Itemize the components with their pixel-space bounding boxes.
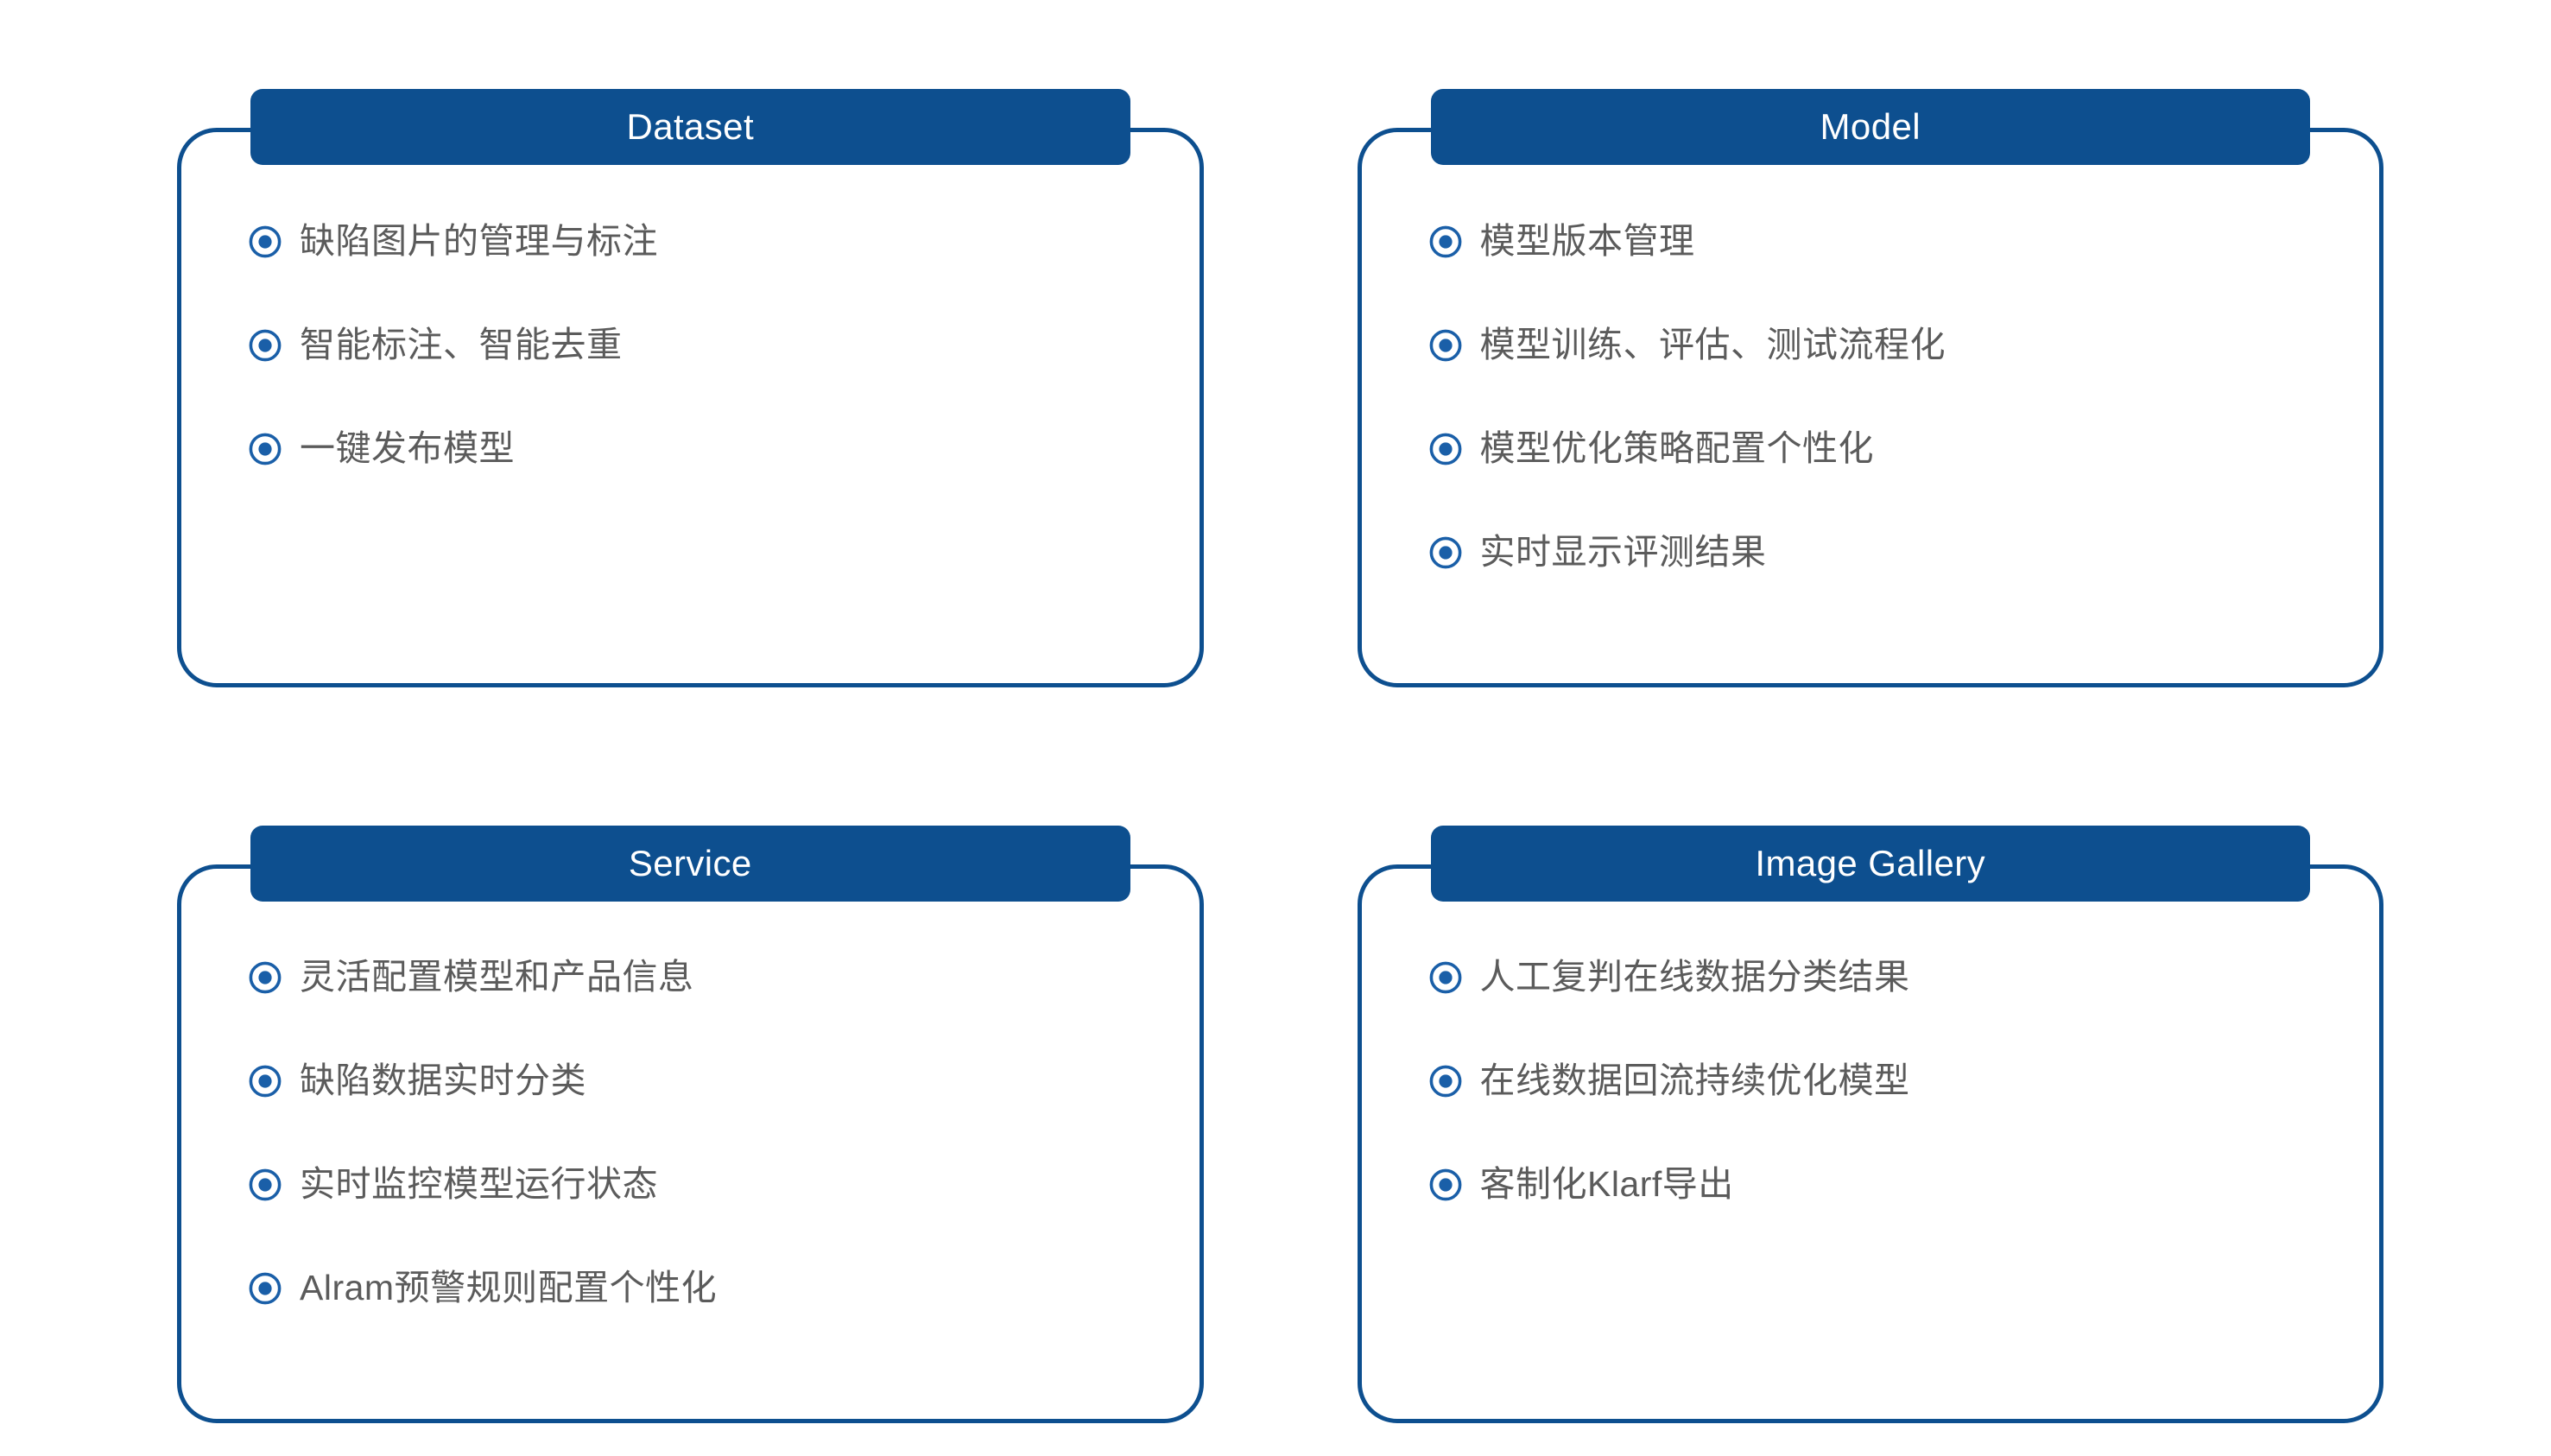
card-model: Model bbox=[1358, 128, 2384, 687]
list-item[interactable]: 实时显示评测结果 bbox=[1362, 526, 2380, 579]
target-ring-icon bbox=[1428, 535, 1463, 570]
list-item[interactable]: 模型训练、评估、测试流程化 bbox=[1362, 319, 2380, 371]
list-item[interactable]: 智能标注、智能去重 bbox=[181, 319, 1200, 371]
list-item-label: Alram预警规则配置个性化 bbox=[300, 1269, 717, 1307]
card-dataset: Dataset bbox=[177, 128, 1204, 687]
card-body-image-gallery: 人工复判在线数据分类结果 bbox=[1362, 922, 2380, 1420]
target-ring-icon bbox=[248, 432, 282, 466]
list-item[interactable]: 客制化Klarf导出 bbox=[1362, 1159, 2380, 1212]
list-item-label: 灵活配置模型和产品信息 bbox=[300, 958, 694, 997]
list-item[interactable]: 实时监控模型运行状态 bbox=[181, 1159, 1200, 1212]
list-item-label: 实时监控模型运行状态 bbox=[300, 1165, 658, 1204]
target-ring-icon bbox=[1428, 225, 1463, 259]
target-ring-icon bbox=[248, 1168, 282, 1202]
feature-list: 灵活配置模型和产品信息 bbox=[181, 952, 1200, 1315]
feature-card-grid: Dataset bbox=[0, 0, 2551, 1456]
list-item[interactable]: 在线数据回流持续优化模型 bbox=[1362, 1055, 2380, 1108]
card-header-image-gallery: Image Gallery bbox=[1431, 826, 2311, 902]
card-title: Service bbox=[629, 845, 752, 882]
list-item-label: 缺陷数据实时分类 bbox=[300, 1061, 586, 1100]
list-item-label: 缺陷图片的管理与标注 bbox=[300, 222, 658, 261]
list-item[interactable]: 缺陷数据实时分类 bbox=[181, 1055, 1200, 1108]
card-header-dataset: Dataset bbox=[250, 89, 1130, 165]
list-item-label: 一键发布模型 bbox=[300, 429, 515, 468]
feature-list: 人工复判在线数据分类结果 bbox=[1362, 952, 2380, 1212]
list-item[interactable]: Alram预警规则配置个性化 bbox=[181, 1263, 1200, 1315]
target-ring-icon bbox=[248, 1064, 282, 1098]
list-item[interactable]: 一键发布模型 bbox=[181, 422, 1200, 475]
list-item-label: 实时显示评测结果 bbox=[1480, 533, 1767, 572]
target-ring-icon bbox=[248, 1271, 282, 1306]
list-item[interactable]: 人工复判在线数据分类结果 bbox=[1362, 952, 2380, 1004]
target-ring-icon bbox=[1428, 1064, 1463, 1098]
list-item[interactable]: 灵活配置模型和产品信息 bbox=[181, 952, 1200, 1004]
target-ring-icon bbox=[248, 960, 282, 995]
target-ring-icon bbox=[248, 225, 282, 259]
list-item-label: 模型训练、评估、测试流程化 bbox=[1480, 326, 1946, 364]
list-item-label: 客制化Klarf导出 bbox=[1480, 1165, 1734, 1204]
list-item-label: 模型版本管理 bbox=[1480, 222, 1695, 261]
card-body-model: 模型版本管理 模型训练 bbox=[1362, 186, 2380, 683]
target-ring-icon bbox=[1428, 328, 1463, 363]
card-title: Model bbox=[1820, 109, 1921, 145]
target-ring-icon bbox=[248, 328, 282, 363]
target-ring-icon bbox=[1428, 960, 1463, 995]
list-item[interactable]: 模型优化策略配置个性化 bbox=[1362, 422, 2380, 475]
list-item[interactable]: 模型版本管理 bbox=[1362, 215, 2380, 268]
card-body-dataset: 缺陷图片的管理与标注 bbox=[181, 186, 1200, 683]
card-title: Image Gallery bbox=[1755, 845, 1985, 882]
list-item-label: 模型优化策略配置个性化 bbox=[1480, 429, 1875, 468]
list-item-label: 在线数据回流持续优化模型 bbox=[1480, 1061, 1910, 1100]
card-header-model: Model bbox=[1431, 89, 2311, 165]
feature-list: 模型版本管理 模型训练 bbox=[1362, 215, 2380, 579]
card-header-service: Service bbox=[250, 826, 1130, 902]
card-title: Dataset bbox=[626, 109, 754, 145]
card-body-service: 灵活配置模型和产品信息 bbox=[181, 922, 1200, 1420]
card-image-gallery: Image Gallery bbox=[1358, 864, 2384, 1424]
target-ring-icon bbox=[1428, 1168, 1463, 1202]
feature-list: 缺陷图片的管理与标注 bbox=[181, 215, 1200, 475]
list-item[interactable]: 缺陷图片的管理与标注 bbox=[181, 215, 1200, 268]
list-item-label: 人工复判在线数据分类结果 bbox=[1480, 958, 1910, 997]
target-ring-icon bbox=[1428, 432, 1463, 466]
list-item-label: 智能标注、智能去重 bbox=[300, 326, 623, 364]
card-service: Service bbox=[177, 864, 1204, 1424]
